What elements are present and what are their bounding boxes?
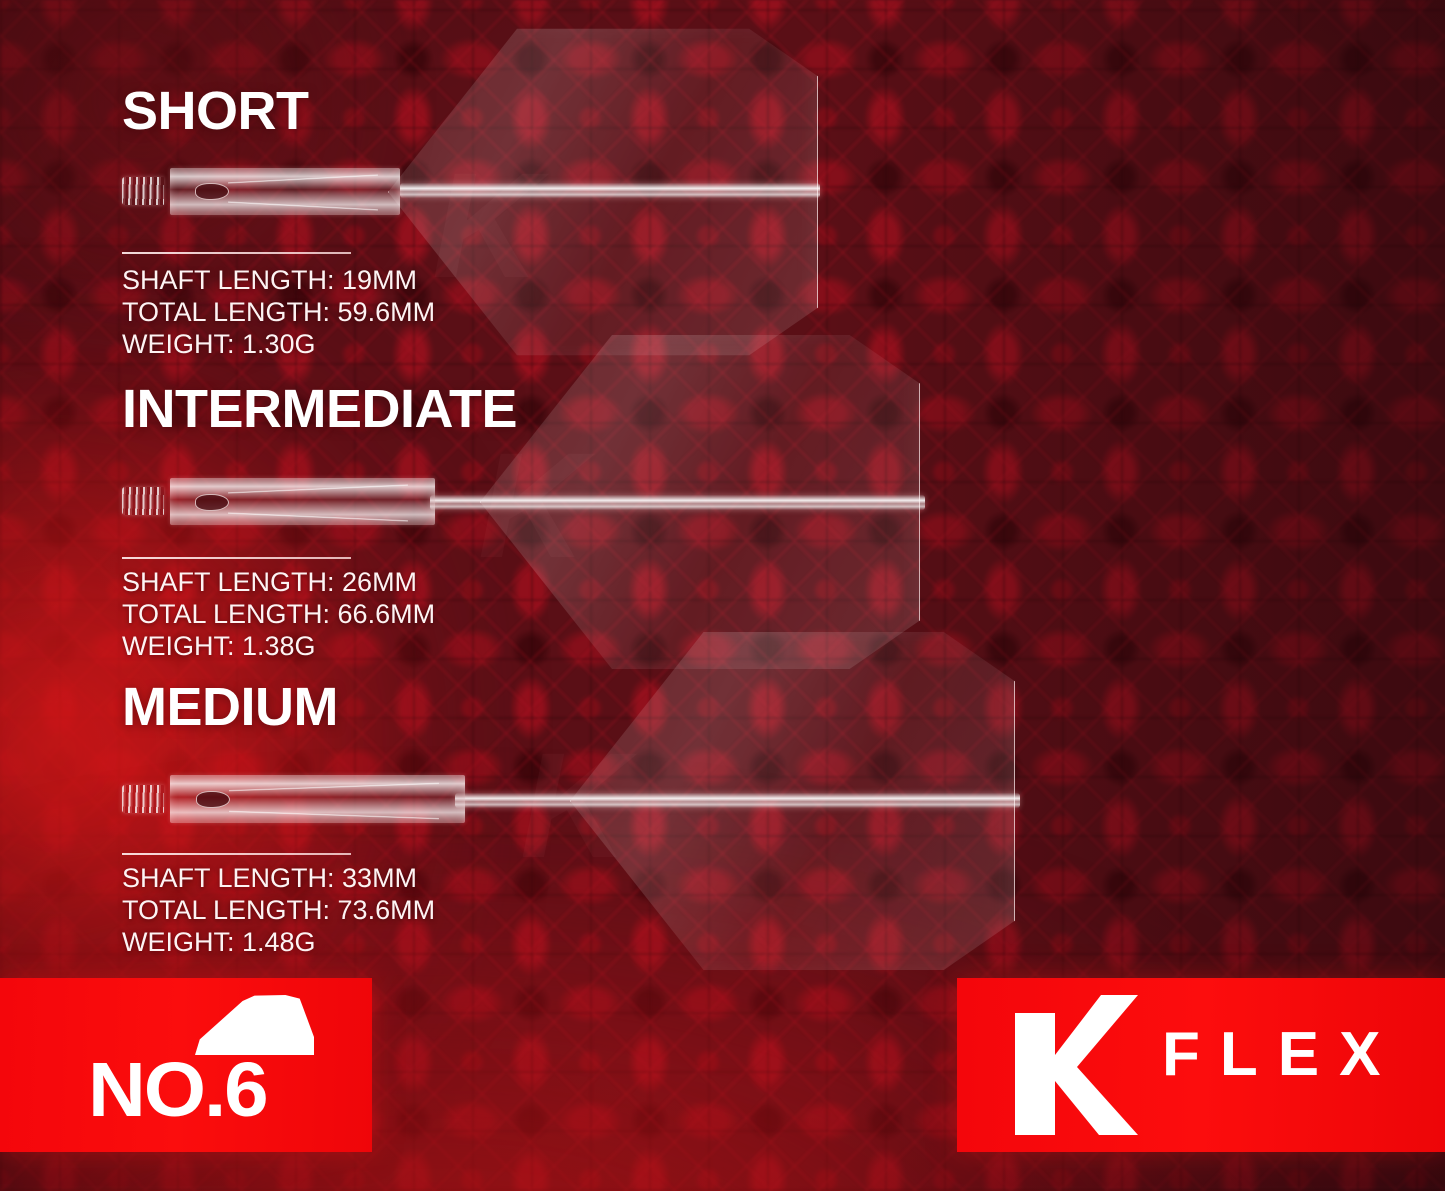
dart-stem-medium xyxy=(455,793,1020,808)
spec-total-length-short: TOTAL LENGTH: 59.6MM xyxy=(122,296,435,328)
section-specs-medium: SHAFT LENGTH: 33MM TOTAL LENGTH: 73.6MM … xyxy=(122,862,435,958)
dart-thread-intermediate xyxy=(122,487,164,515)
dart-thread-medium xyxy=(122,785,164,813)
section-specs-short: SHAFT LENGTH: 19MM TOTAL LENGTH: 59.6MM … xyxy=(122,264,435,360)
infographic-stage: K K K SHORT SHAFT LENGTH: 19MM TOTAL LEN… xyxy=(0,0,1445,1191)
k-logo-icon xyxy=(1015,995,1138,1135)
dart-shaft-port-intermediate xyxy=(195,494,229,511)
spec-total-length-intermediate: TOTAL LENGTH: 66.6MM xyxy=(122,598,435,630)
section-title-medium: MEDIUM xyxy=(122,680,338,734)
brand-bar: FLEX xyxy=(957,978,1445,1152)
spec-weight-intermediate: WEIGHT: 1.38G xyxy=(122,630,435,662)
dart-stem-intermediate xyxy=(430,495,925,510)
spec-weight-medium: WEIGHT: 1.48G xyxy=(122,926,435,958)
section-title-intermediate: INTERMEDIATE xyxy=(122,382,517,436)
dart-shaft-port-medium xyxy=(196,791,230,808)
dart-shaft-port-short xyxy=(195,183,229,200)
model-badge: NO.6 xyxy=(0,978,372,1152)
spec-shaft-length-short: SHAFT LENGTH: 19MM xyxy=(122,264,435,296)
section-divider-short xyxy=(122,252,351,254)
spec-total-length-medium: TOTAL LENGTH: 73.6MM xyxy=(122,894,435,926)
model-badge-label: NO.6 xyxy=(88,1052,267,1129)
section-specs-intermediate: SHAFT LENGTH: 26MM TOTAL LENGTH: 66.6MM … xyxy=(122,566,435,662)
section-divider-intermediate xyxy=(122,557,351,559)
spec-shaft-length-medium: SHAFT LENGTH: 33MM xyxy=(122,862,435,894)
dart-flight-icon xyxy=(195,995,314,1055)
section-divider-medium xyxy=(122,853,351,855)
spec-shaft-length-intermediate: SHAFT LENGTH: 26MM xyxy=(122,566,435,598)
dart-thread-short xyxy=(122,177,164,205)
spec-weight-short: WEIGHT: 1.30G xyxy=(122,328,435,360)
section-title-short: SHORT xyxy=(122,84,309,138)
dart-stem-short xyxy=(400,183,820,198)
brand-wordmark: FLEX xyxy=(1162,1024,1400,1086)
